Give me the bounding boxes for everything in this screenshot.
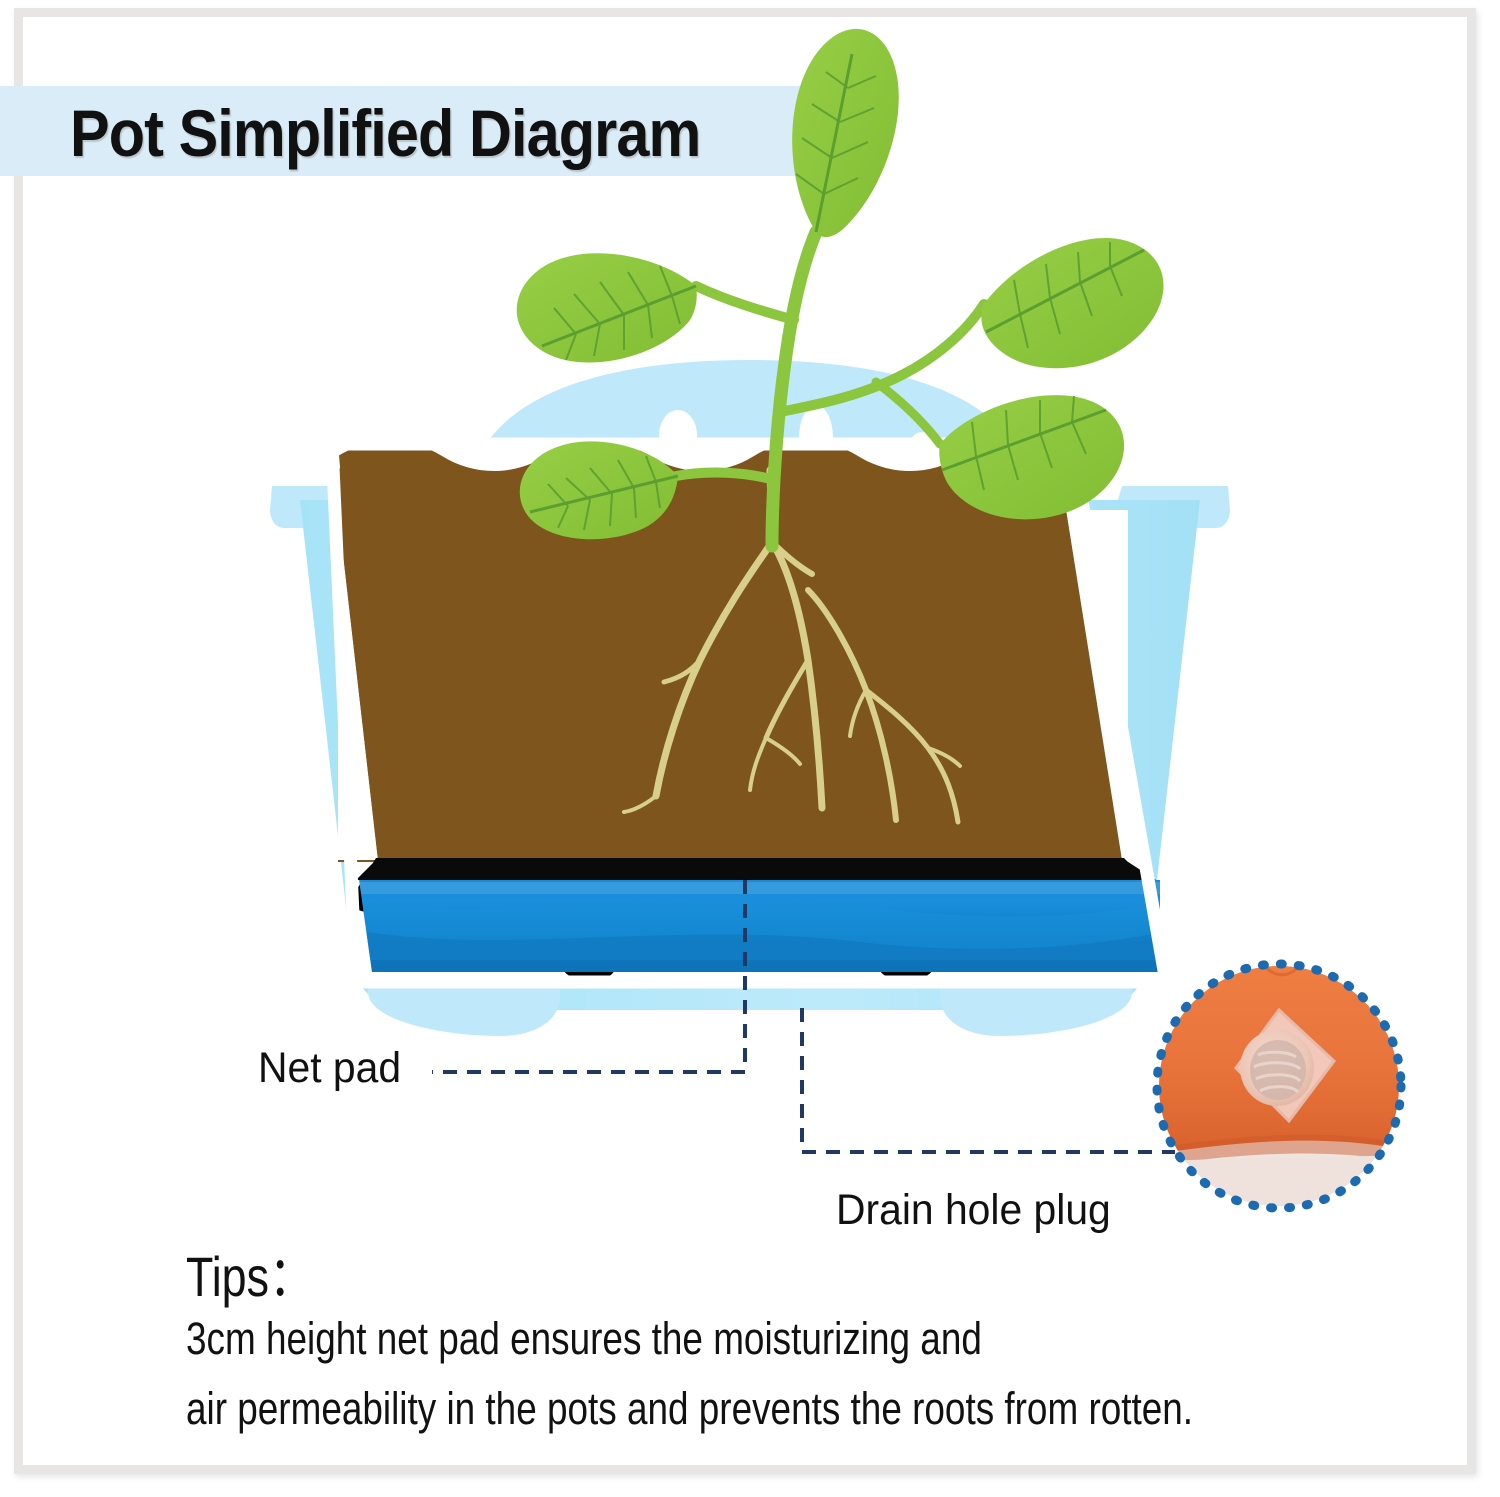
netpad-leader-line xyxy=(432,880,745,1072)
tips-heading: Tips： xyxy=(186,1232,314,1313)
tips-line-2: air permeability in the pots and prevent… xyxy=(186,1383,1193,1435)
tips-line-1: 3cm height net pad ensures the moisturiz… xyxy=(186,1313,982,1365)
diagram-canvas: Pot Simplified Diagram xyxy=(0,0,1500,1497)
callout-label-net-pad: Net pad xyxy=(258,1044,401,1093)
drain-leader-line xyxy=(802,1008,1175,1152)
photo-content xyxy=(1148,955,1410,1217)
drain-hole-plug-photo xyxy=(1148,955,1410,1217)
photo-inset-svg xyxy=(1148,955,1410,1217)
callout-label-drain-hole-plug: Drain hole plug xyxy=(836,1186,1111,1235)
